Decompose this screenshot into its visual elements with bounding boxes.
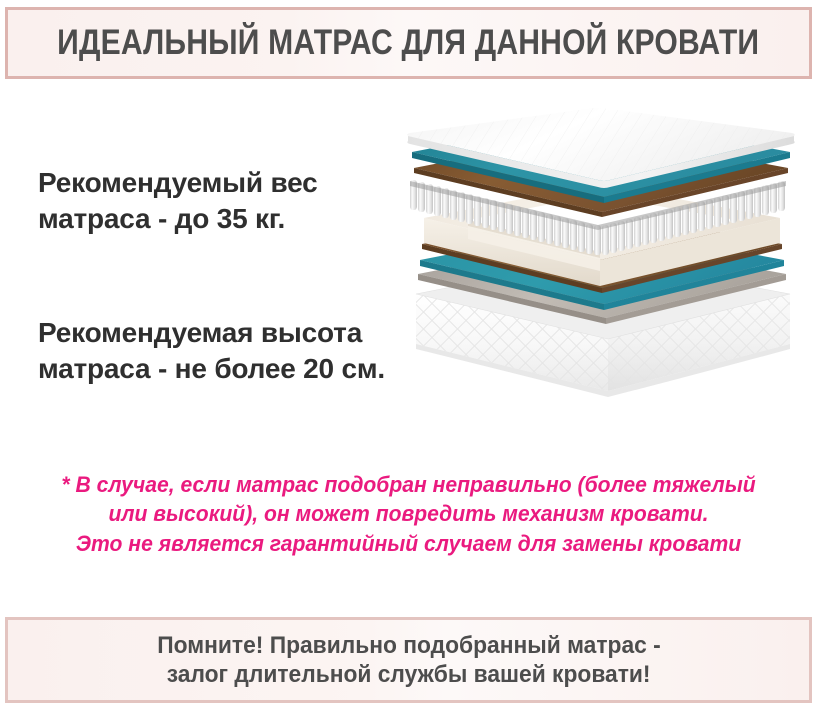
recommended-height-line-1: Рекомендуемая высота <box>38 315 438 351</box>
warning-line-3: Это не является гарантийный случаем для … <box>36 529 782 558</box>
warning-line-2: или высокий), он может повредить механиз… <box>36 499 782 528</box>
warning-line-1: * В случае, если матрас подобран неправи… <box>36 470 782 499</box>
recommended-weight-line-2: матраса - до 35 кг. <box>38 201 438 237</box>
recommended-height-line-2: матраса - не более 20 см. <box>38 351 438 387</box>
footer-banner: Помните! Правильно подобранный матрас - … <box>5 617 812 703</box>
footer-line-2: залог длительной службы вашей кровати! <box>167 660 651 689</box>
recommended-weight-line-1: Рекомендуемый вес <box>38 165 438 201</box>
page-title: ИДЕАЛЬНЫЙ МАТРАС ДЛЯ ДАННОЙ КРОВАТИ <box>57 23 759 63</box>
exploded-mattress-illustration <box>398 108 808 418</box>
header-banner: ИДЕАЛЬНЫЙ МАТРАС ДЛЯ ДАННОЙ КРОВАТИ <box>5 7 812 79</box>
mattress-recommendation-infographic: ИДЕАЛЬНЫЙ МАТРАС ДЛЯ ДАННОЙ КРОВАТИ Реко… <box>0 0 817 700</box>
recommended-weight-block: Рекомендуемый вес матраса - до 35 кг. <box>38 165 438 237</box>
footer-line-1: Помните! Правильно подобранный матрас - <box>157 631 660 660</box>
warning-note: * В случае, если матрас подобран неправи… <box>20 470 797 558</box>
recommended-height-block: Рекомендуемая высота матраса - не более … <box>38 315 438 387</box>
